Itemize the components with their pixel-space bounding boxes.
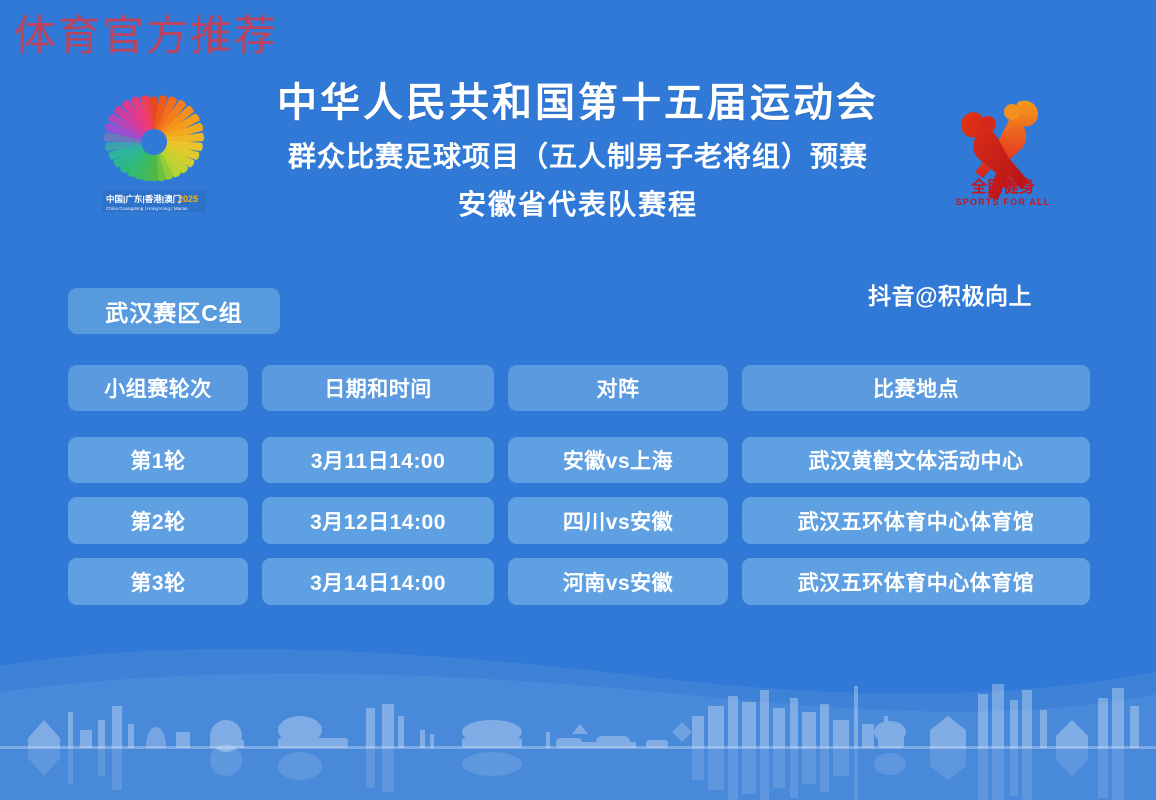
cell-match: 安徽vs上海 — [508, 437, 728, 483]
cell-venue: 武汉黄鹤文体活动中心 — [742, 437, 1090, 483]
team-schedule-title: 安徽省代表队赛程 — [216, 186, 940, 224]
group-badge: 武汉赛区C组 — [68, 288, 280, 334]
svg-text:China Guangdong | Hong Kong |: China Guangdong | Hong Kong | Macao — [106, 206, 188, 211]
cell-venue: 武汉五环体育中心体育馆 — [742, 558, 1090, 605]
social-handle: 抖音@积极向上 — [868, 277, 1032, 311]
event-subtitle: 群众比赛足球项目（五人制男子老将组）预赛 — [216, 138, 940, 176]
cell-match: 河南vs安徽 — [508, 558, 728, 605]
wave-front — [0, 673, 1156, 800]
svg-text:中国|广东|香港|澳门: 中国|广东|香港|澳门 — [106, 194, 181, 204]
skyline-buildings — [28, 684, 1139, 752]
cell-round: 第1轮 — [68, 437, 248, 483]
watermark-text: 体育官方推荐 — [14, 2, 278, 63]
cell-datetime: 3月12日14:00 — [262, 497, 494, 544]
column-header-match: 对阵 — [508, 365, 728, 411]
column-header-round: 小组赛轮次 — [68, 365, 248, 411]
wave-back — [0, 649, 1156, 800]
table-row: 第1轮 3月11日14:00 安徽vs上海 武汉黄鹤文体活动中心 — [68, 437, 1090, 483]
table-row: 第2轮 3月12日14:00 四川vs安徽 武汉五环体育中心体育馆 — [68, 497, 1090, 544]
horizon-line — [0, 746, 1156, 749]
table-header-row: 小组赛轮次 日期和时间 对阵 比赛地点 — [68, 365, 1090, 411]
national-games-emblem: 中国|广东|香港|澳门 2025 China Guangdong | Hong … — [98, 86, 210, 216]
page-title: 中华人民共和国第十五届运动会 — [216, 78, 940, 128]
cell-round: 第3轮 — [68, 558, 248, 605]
svg-text:SPORTS FOR ALL: SPORTS FOR ALL — [956, 197, 1051, 207]
national-games-emblem-icon: 中国|广东|香港|澳门 2025 China Guangdong | Hong … — [98, 86, 210, 216]
skyline-reflection — [28, 744, 1124, 800]
title-block: 中华人民共和国第十五届运动会 群众比赛足球项目（五人制男子老将组）预赛 安徽省代… — [216, 78, 940, 224]
schedule-table: 小组赛轮次 日期和时间 对阵 比赛地点 第1轮 3月11日14:00 安徽vs上… — [68, 365, 1090, 605]
city-skyline-decoration — [0, 620, 1156, 800]
sports-for-all-icon: 全民健身 SPORTS FOR ALL — [944, 84, 1062, 212]
cell-match: 四川vs安徽 — [508, 497, 728, 544]
cell-round: 第2轮 — [68, 497, 248, 544]
column-header-datetime: 日期和时间 — [262, 365, 494, 411]
sports-for-all-emblem: 全民健身 SPORTS FOR ALL — [944, 84, 1062, 212]
table-row: 第3轮 3月14日14:00 河南vs安徽 武汉五环体育中心体育馆 — [68, 558, 1090, 605]
svg-text:全民健身: 全民健身 — [970, 177, 1035, 196]
poster-canvas: 体育官方推荐 中国|广东|香港|澳门 2025 China Guangdong … — [0, 0, 1156, 800]
svg-text:2025: 2025 — [178, 194, 198, 204]
cell-datetime: 3月14日14:00 — [262, 558, 494, 605]
column-header-venue: 比赛地点 — [742, 365, 1090, 411]
cell-venue: 武汉五环体育中心体育馆 — [742, 497, 1090, 544]
cell-datetime: 3月11日14:00 — [262, 437, 494, 483]
poster-header: 中国|广东|香港|澳门 2025 China Guangdong | Hong … — [0, 78, 1156, 268]
